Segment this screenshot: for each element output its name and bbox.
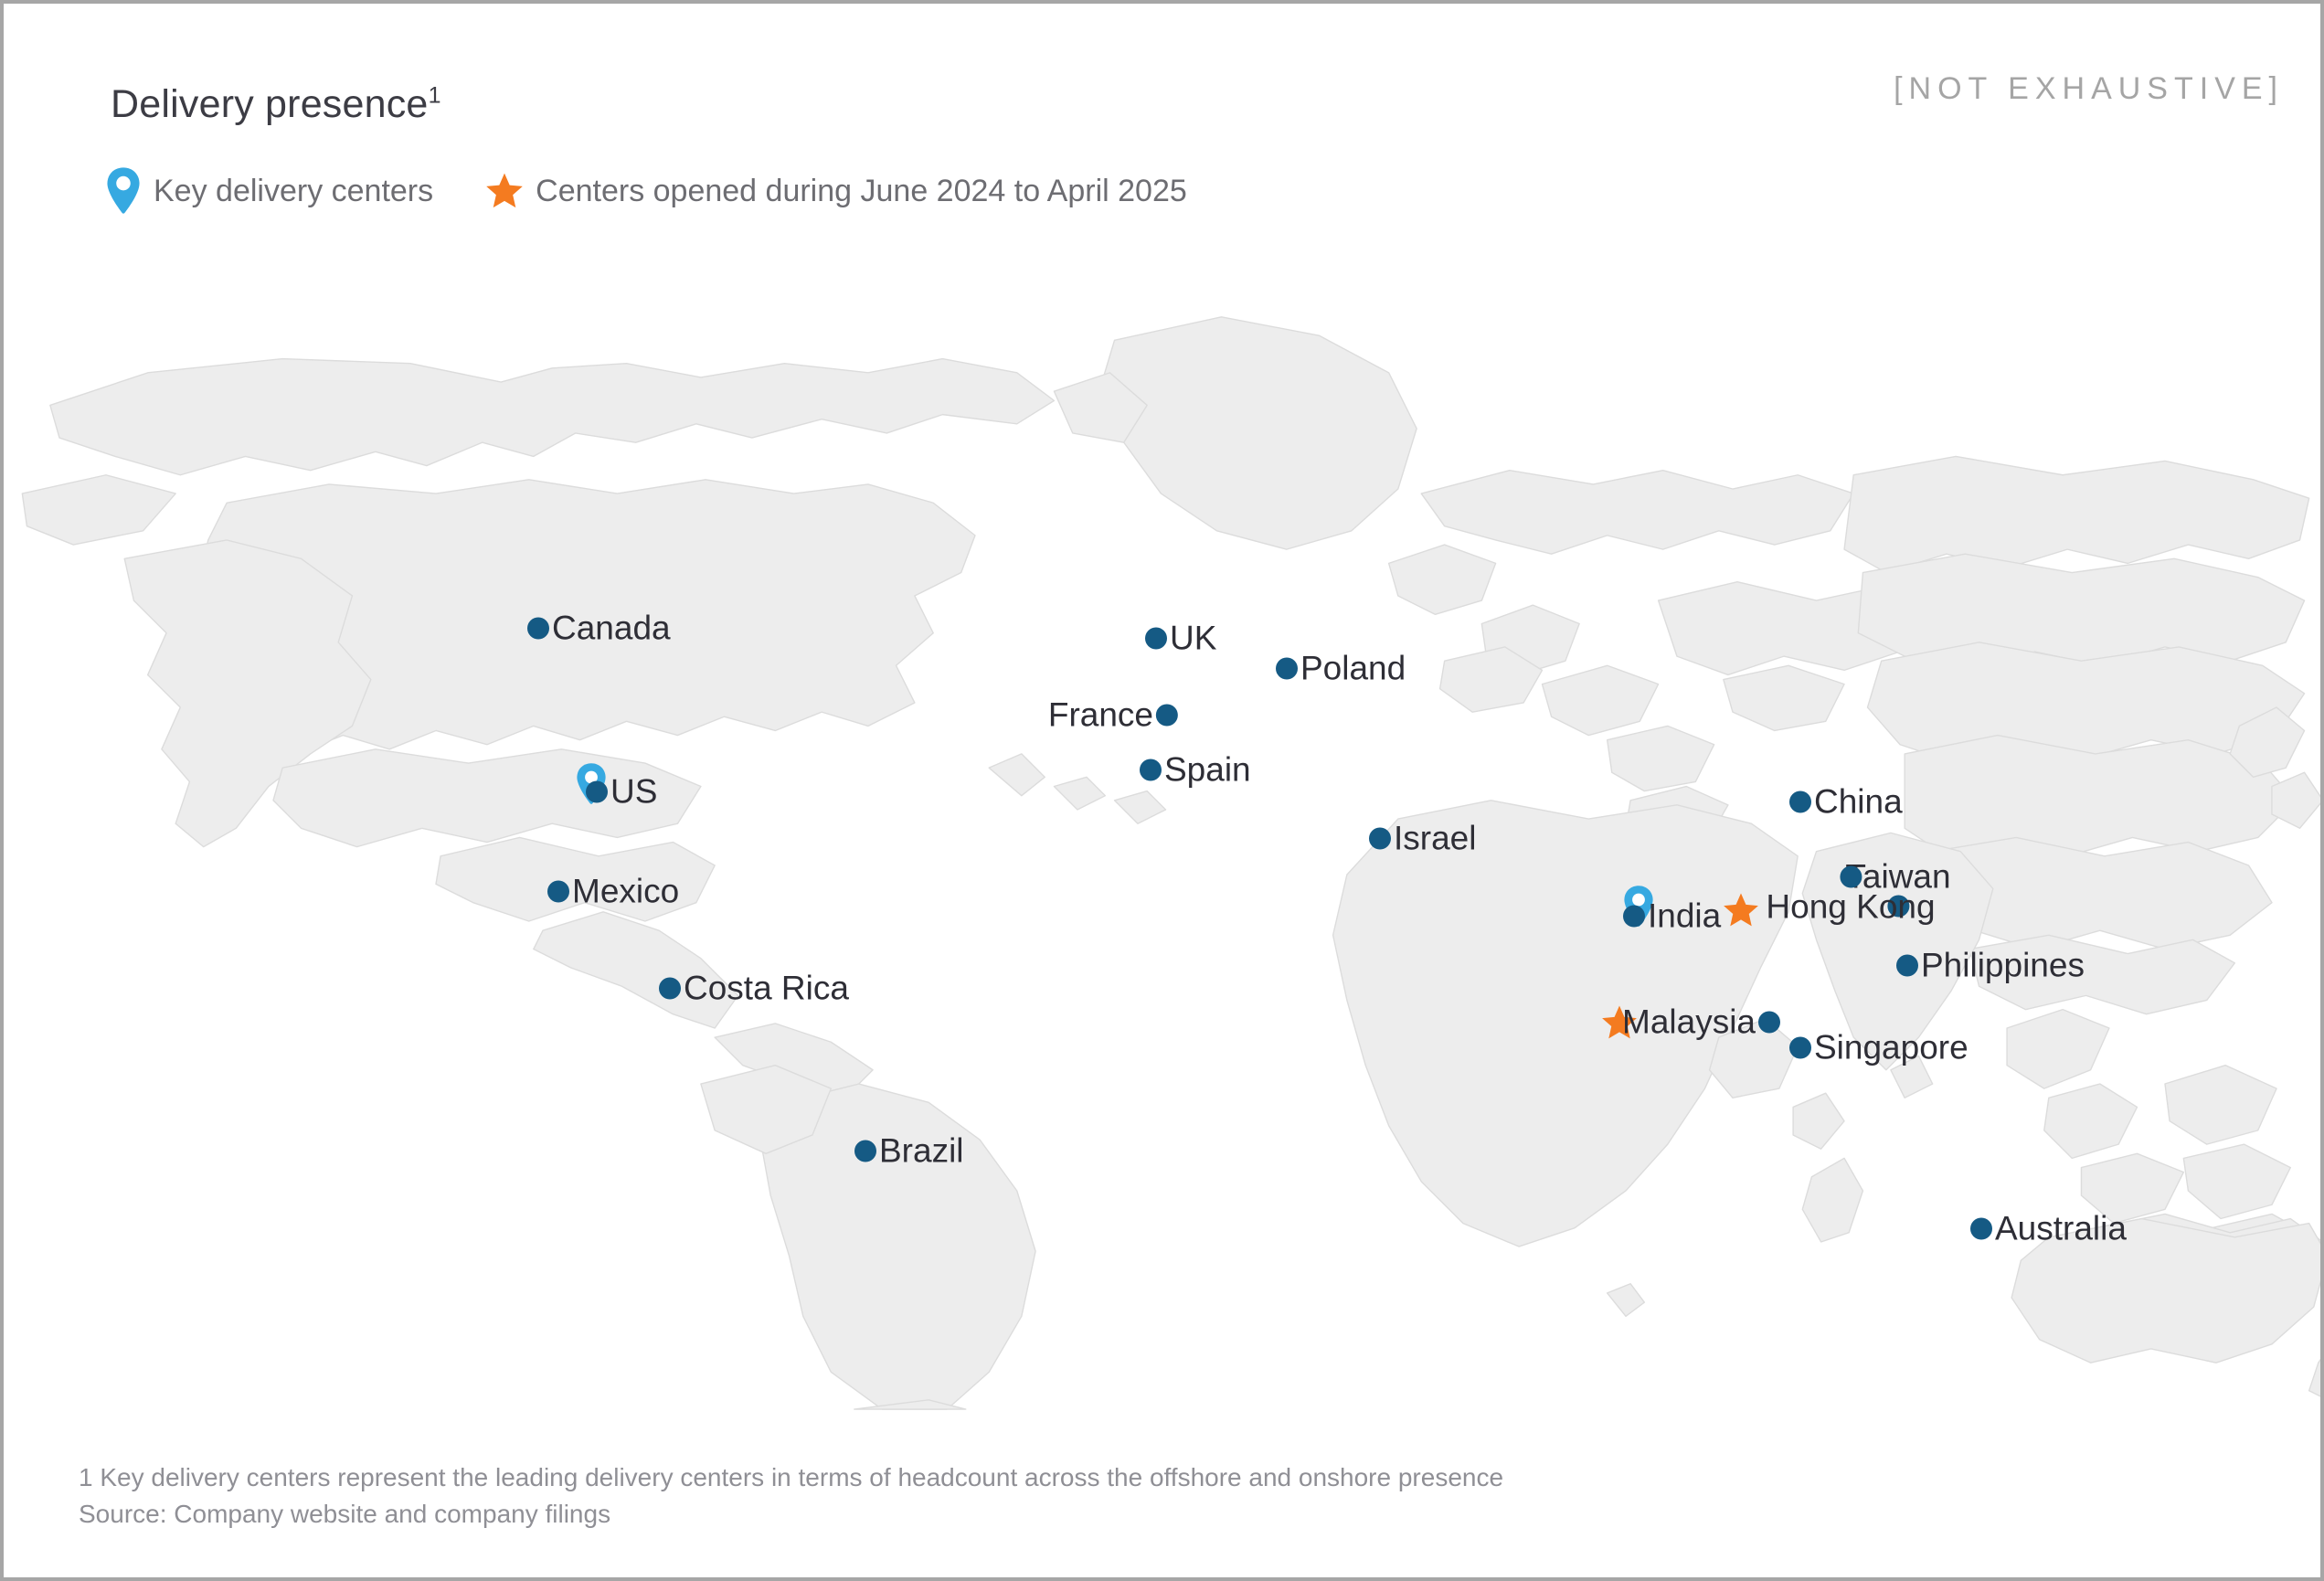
location-label: US [608,775,657,809]
map-location-costa-rica[interactable]: Costa Rica [659,971,849,1005]
location-label: China [1811,785,1903,819]
page-title-footnote-marker: 1 [429,83,441,109]
map-landmasses [22,317,2324,1409]
slide-root: Delivery presence1 [NOT EXHAUSTIVE] Key … [0,0,2324,1581]
location-dot [547,880,569,902]
location-dot [1840,866,1862,888]
map-location-hong-kong[interactable]: Hong Kong [1766,866,1935,924]
location-dot [1276,657,1298,679]
location-label: France [1048,698,1156,732]
star-icon [484,171,525,211]
location-dot [659,977,681,999]
map-location-uk[interactable]: UK [1145,621,1216,655]
location-label: Spain [1162,753,1251,787]
map-location-malaysia[interactable]: Malaysia [1622,1005,1780,1039]
location-label: Canada [549,611,671,645]
location-label: Malaysia [1622,1005,1758,1039]
map-location-australia[interactable]: Australia [1970,1212,2127,1246]
footnote-1: 1 Key delivery centers represent the lea… [79,1459,1503,1497]
location-dot [586,780,608,802]
map-location-brazil[interactable]: Brazil [854,1134,964,1168]
location-label: Philippines [1918,949,2085,982]
map-location-mexico[interactable]: Mexico [547,875,679,908]
location-dot [1140,759,1162,780]
location-dot [854,1140,876,1162]
location-label: Hong Kong [1766,890,1935,924]
location-dot [1758,1011,1780,1033]
location-dot [1896,954,1918,976]
map-location-us[interactable]: US [586,775,657,809]
footnotes: 1 Key delivery centers represent the lea… [79,1459,1503,1533]
legend-item-key-delivery-centers[interactable]: Key delivery centers [104,166,433,216]
location-label: Singapore [1811,1031,1969,1065]
location-dot [1369,827,1391,849]
map-location-spain[interactable]: Spain [1140,753,1251,787]
not-exhaustive-badge: [NOT EXHAUSTIVE] [1894,71,2284,107]
legend: Key delivery centers Centers opened duri… [104,166,1187,216]
location-label: Poland [1298,652,1406,685]
map-location-canada[interactable]: Canada [527,611,671,645]
legend-item-new-centers[interactable]: Centers opened during June 2024 to April… [484,171,1187,211]
location-label: Costa Rica [681,971,849,1005]
location-label: UK [1167,621,1216,655]
legend-label-key-delivery-centers: Key delivery centers [154,174,433,209]
location-label: Mexico [569,875,679,908]
footnote-source: Source: Company website and company fili… [79,1496,1503,1533]
location-dot [1156,704,1178,726]
map-location-israel[interactable]: Israel [1369,822,1476,855]
map-location-poland[interactable]: Poland [1276,652,1406,685]
world-map-svg [4,232,2324,1448]
map-location-philippines[interactable]: Philippines [1896,949,2085,982]
location-dot [1970,1217,1992,1239]
location-label: India [1645,899,1721,933]
map-location-france[interactable]: France [1048,698,1178,732]
location-dot [1789,1036,1811,1058]
star-icon-india-new-center[interactable] [1722,891,1760,929]
location-dot [527,617,549,639]
map-location-india[interactable]: India [1623,899,1721,933]
location-dot [1623,905,1645,927]
page-title-text: Delivery presence [111,82,429,126]
location-label: Australia [1992,1212,2127,1246]
world-map [4,232,2324,1448]
location-dot [1145,627,1167,649]
location-label: Brazil [876,1134,964,1168]
location-dot [1789,790,1811,812]
legend-label-new-centers: Centers opened during June 2024 to April… [536,174,1187,209]
map-pin-icon [104,166,143,216]
location-label: Israel [1391,822,1476,855]
map-location-china[interactable]: China [1789,785,1903,819]
page-title: Delivery presence1 [111,82,441,127]
map-location-singapore[interactable]: Singapore [1789,1031,1969,1065]
